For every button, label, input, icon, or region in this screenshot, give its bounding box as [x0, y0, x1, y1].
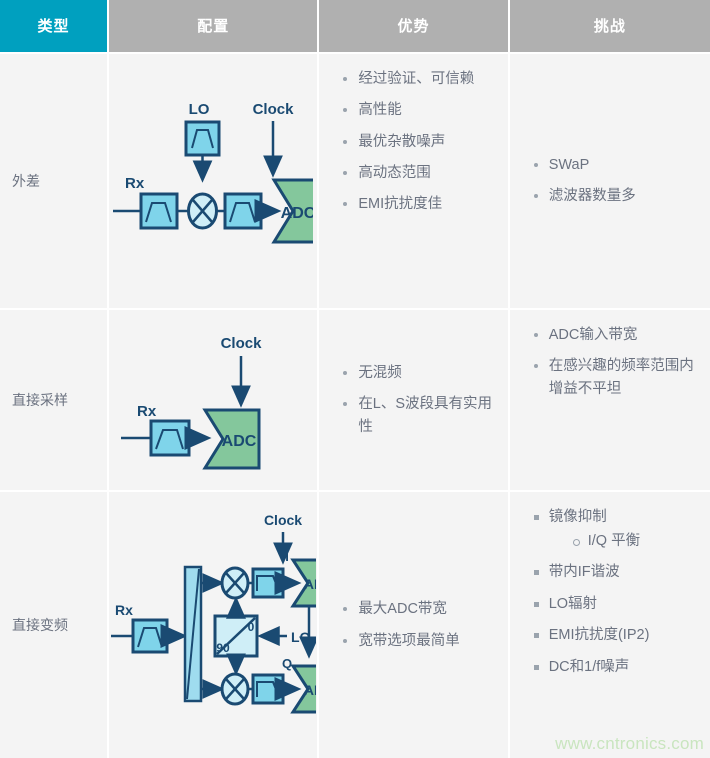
direct-sampling-block-diagram: Clock Rx ADC [109, 310, 317, 491]
list-item: 最优杂散噪声 [341, 131, 497, 153]
header-label-type: 类型 [0, 0, 107, 52]
adc-label: ADC [304, 576, 316, 592]
list-item: 最大ADC带宽 [341, 598, 497, 620]
row-configuration-cell: Clock Rx [109, 492, 317, 758]
header-cell-type: 类型 [0, 0, 107, 52]
phase-90-label: 90 [216, 641, 230, 655]
direct-conversion-block-diagram: Clock Rx [109, 492, 317, 758]
row-type-label: 外差 [0, 54, 107, 308]
list-item: 宽带选项最简单 [341, 630, 497, 652]
advantages-list-container: 无混频 在L、S波段具有实用性 [319, 310, 507, 491]
rx-label: Rx [115, 602, 133, 618]
row-advantages-cell: 经过验证、可信赖 高性能 最优杂散噪声 高动态范围 EMI抗扰度佳 [319, 54, 507, 308]
challenges-list: 镜像抑制 I/Q 平衡 带内IF谐波 LO辐射 EMI抗扰度(IP2) DC和1… [532, 506, 700, 678]
list-item: 在感兴趣的频率范围内增益不平坦 [532, 355, 700, 400]
list-item: 镜像抑制 I/Q 平衡 [532, 506, 700, 552]
clock-label: Clock [253, 101, 295, 118]
list-item: EMI抗扰度(IP2) [532, 624, 700, 646]
clock-label: Clock [264, 512, 302, 528]
list-item: 带内IF谐波 [532, 561, 700, 583]
list-item: 高动态范围 [341, 162, 497, 184]
challenges-list-container: 镜像抑制 I/Q 平衡 带内IF谐波 LO辐射 EMI抗扰度(IP2) DC和1… [510, 492, 710, 758]
row-challenges-cell: 镜像抑制 I/Q 平衡 带内IF谐波 LO辐射 EMI抗扰度(IP2) DC和1… [510, 492, 710, 758]
list-item: 高性能 [341, 99, 497, 121]
adc-label: ADC [222, 433, 257, 450]
advantages-list-container: 经过验证、可信赖 高性能 最优杂散噪声 高动态范围 EMI抗扰度佳 [319, 54, 507, 308]
challenges-list: SWaP 滤波器数量多 [532, 154, 700, 208]
advantages-list: 无混频 在L、S波段具有实用性 [341, 362, 497, 438]
table-row: 直接变频 Clock Rx [0, 492, 710, 758]
row-type-label: 直接采样 [0, 310, 107, 491]
table-row: 外差 LO Clock [0, 54, 710, 308]
list-item: I/Q 平衡 [571, 531, 700, 553]
list-item: EMI抗扰度佳 [341, 193, 497, 215]
header-label-challenges: 挑战 [510, 0, 710, 52]
adc-label: ADC [281, 205, 313, 222]
phase-0-label: 0 [247, 620, 254, 634]
list-item: 滤波器数量多 [532, 185, 700, 207]
challenges-sublist: I/Q 平衡 [549, 531, 700, 553]
list-item: 无混频 [341, 362, 497, 384]
rx-label: Rx [137, 403, 157, 420]
list-item-label: 镜像抑制 [549, 509, 607, 525]
row-advantages-cell: 最大ADC带宽 宽带选项最简单 [319, 492, 507, 758]
list-item: ADC输入带宽 [532, 324, 700, 346]
clock-label: Clock [221, 335, 263, 352]
watermark: www.cntronics.com [555, 734, 704, 754]
lo-label: LO [189, 101, 210, 118]
advantages-list: 最大ADC带宽 宽带选项最简单 [341, 598, 497, 652]
header-cell-configuration: 配置 [109, 0, 317, 52]
list-item: 经过验证、可信赖 [341, 68, 497, 90]
q-label: Q [282, 656, 292, 671]
row-configuration-cell: LO Clock Rx [109, 54, 317, 308]
row-advantages-cell: 无混频 在L、S波段具有实用性 [319, 310, 507, 491]
header-cell-advantages: 优势 [319, 0, 507, 52]
list-item: LO辐射 [532, 593, 700, 615]
challenges-list-container: SWaP 滤波器数量多 [510, 54, 710, 308]
comparison-table: 类型 配置 优势 挑战 外差 [0, 0, 710, 758]
list-item: 在L、S波段具有实用性 [341, 393, 497, 438]
row-challenges-cell: ADC输入带宽 在感兴趣的频率范围内增益不平坦 [510, 310, 710, 491]
list-item: SWaP [532, 154, 700, 176]
lo-label: LO [291, 629, 311, 645]
rx-label: Rx [125, 175, 145, 192]
header-label-advantages: 优势 [319, 0, 507, 52]
row-challenges-cell: SWaP 滤波器数量多 [510, 54, 710, 308]
header-cell-challenges: 挑战 [510, 0, 710, 52]
table-row: 直接采样 Clock Rx [0, 310, 710, 491]
row-type-cell: 外差 [0, 54, 107, 308]
list-item: DC和1/f噪声 [532, 656, 700, 678]
row-type-cell: 直接采样 [0, 310, 107, 491]
advantages-list-container: 最大ADC带宽 宽带选项最简单 [319, 492, 507, 758]
row-type-label: 直接变频 [0, 492, 107, 758]
heterodyne-block-diagram: LO Clock Rx [109, 54, 317, 308]
table-header-row: 类型 配置 优势 挑战 [0, 0, 710, 52]
challenges-list: ADC输入带宽 在感兴趣的频率范围内增益不平坦 [532, 324, 700, 400]
adc-label: ADC [304, 682, 316, 698]
i-label: I [285, 549, 289, 564]
advantages-list: 经过验证、可信赖 高性能 最优杂散噪声 高动态范围 EMI抗扰度佳 [341, 68, 497, 216]
header-label-configuration: 配置 [109, 0, 317, 52]
challenges-list-container: ADC输入带宽 在感兴趣的频率范围内增益不平坦 [510, 310, 710, 491]
row-configuration-cell: Clock Rx ADC [109, 310, 317, 491]
row-type-cell: 直接变频 [0, 492, 107, 758]
